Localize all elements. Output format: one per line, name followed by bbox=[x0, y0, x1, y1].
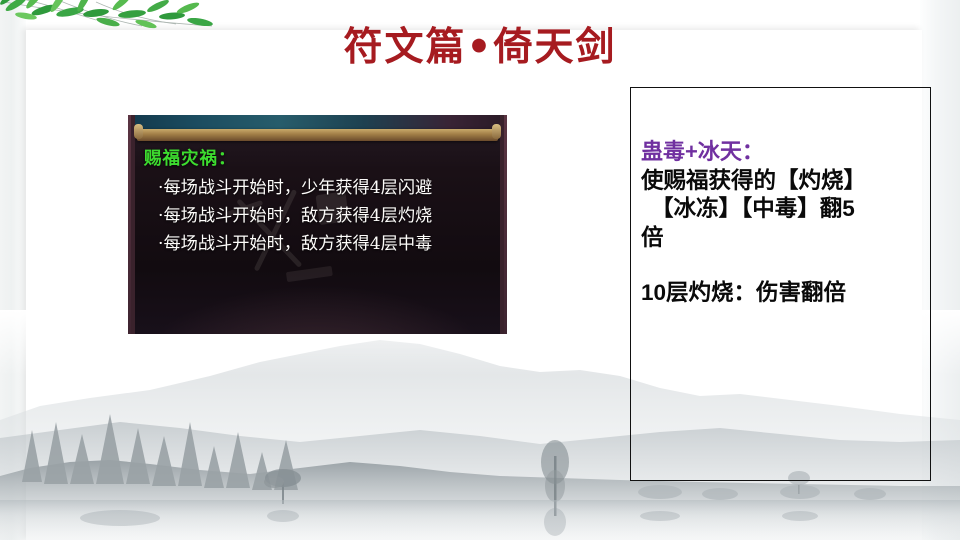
note-box-content: 蛊毒+冰天： 使赐福获得的【灼烧】 【冰冻】【中毒】翻5 倍 10层灼烧：伤害翻… bbox=[641, 138, 924, 308]
game-heading: 赐福灾祸： bbox=[144, 145, 497, 173]
game-gold-bar bbox=[137, 129, 498, 141]
game-top-glow bbox=[128, 115, 507, 129]
game-effect-line-2: ·每场战斗开始时，敌方获得4层灼烧 bbox=[144, 203, 497, 231]
game-screenshot-image: 赐福灾祸： ·每场战斗开始时，少年获得4层闪避 ·每场战斗开始时，敌方获得4层灼… bbox=[128, 115, 507, 334]
note-body-line-3: 倍 bbox=[641, 224, 924, 253]
game-effect-line-3: ·每场战斗开始时，敌方获得4层中毒 bbox=[144, 231, 497, 259]
game-gold-knob-left bbox=[134, 124, 143, 139]
note-body-line-1: 使赐福获得的【灼烧】 bbox=[641, 167, 924, 196]
note-spacer bbox=[641, 253, 924, 279]
note-box: 蛊毒+冰天： 使赐福获得的【灼烧】 【冰冻】【中毒】翻5 倍 10层灼烧：伤害翻… bbox=[630, 87, 931, 481]
note-footer: 10层灼烧：伤害翻倍 bbox=[641, 279, 924, 308]
page-gutter-left bbox=[0, 0, 26, 540]
game-effect-line-1: ·每场战斗开始时，少年获得4层闪避 bbox=[144, 175, 497, 203]
game-gold-knob-right bbox=[492, 124, 501, 139]
note-title: 蛊毒+冰天： bbox=[641, 138, 924, 166]
note-body-line-2: 【冰冻】【中毒】翻5 bbox=[641, 195, 924, 224]
slide-canvas: 符文篇•倚天剑 赐福灾祸： ·每场战斗开始时，少年获得4层闪避 ·每场战斗开始时 bbox=[0, 0, 960, 540]
page-title: 符文篇•倚天剑 bbox=[0, 16, 960, 72]
game-text-block: 赐福灾祸： ·每场战斗开始时，少年获得4层闪避 ·每场战斗开始时，敌方获得4层灼… bbox=[144, 145, 497, 259]
